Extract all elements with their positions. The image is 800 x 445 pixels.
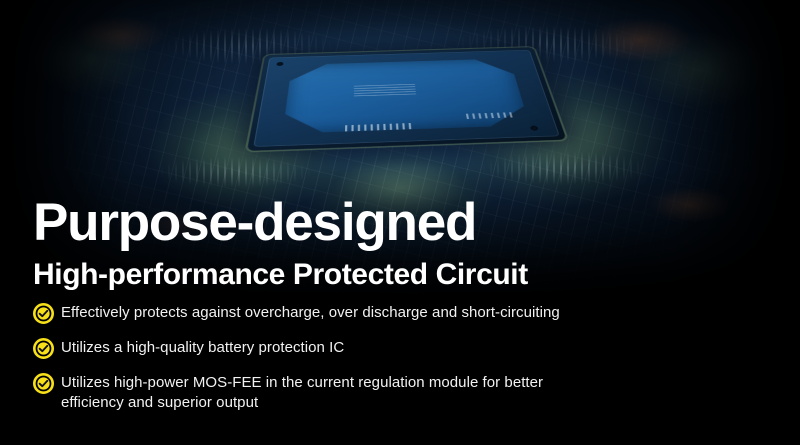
- banner-subtitle: High-performance Protected Circuit: [33, 260, 528, 290]
- feature-text: Utilizes high-power MOS-FEE in the curre…: [61, 373, 551, 413]
- check-circle-icon: [33, 338, 54, 359]
- feature-list: Effectively protects against overcharge,…: [33, 303, 773, 413]
- feature-item: Utilizes high-power MOS-FEE in the curre…: [33, 373, 773, 413]
- feature-item: Effectively protects against overcharge,…: [33, 303, 773, 324]
- feature-item: Utilizes a high-quality battery protecti…: [33, 338, 773, 359]
- product-feature-banner: Purpose-designed High-performance Protec…: [0, 0, 800, 445]
- feature-text: Effectively protects against overcharge,…: [61, 303, 560, 323]
- check-circle-icon: [33, 373, 54, 394]
- banner-title: Purpose-designed: [33, 196, 476, 249]
- banner-content: Purpose-designed High-performance Protec…: [0, 0, 800, 445]
- feature-text: Utilizes a high-quality battery protecti…: [61, 338, 344, 358]
- check-circle-icon: [33, 303, 54, 324]
